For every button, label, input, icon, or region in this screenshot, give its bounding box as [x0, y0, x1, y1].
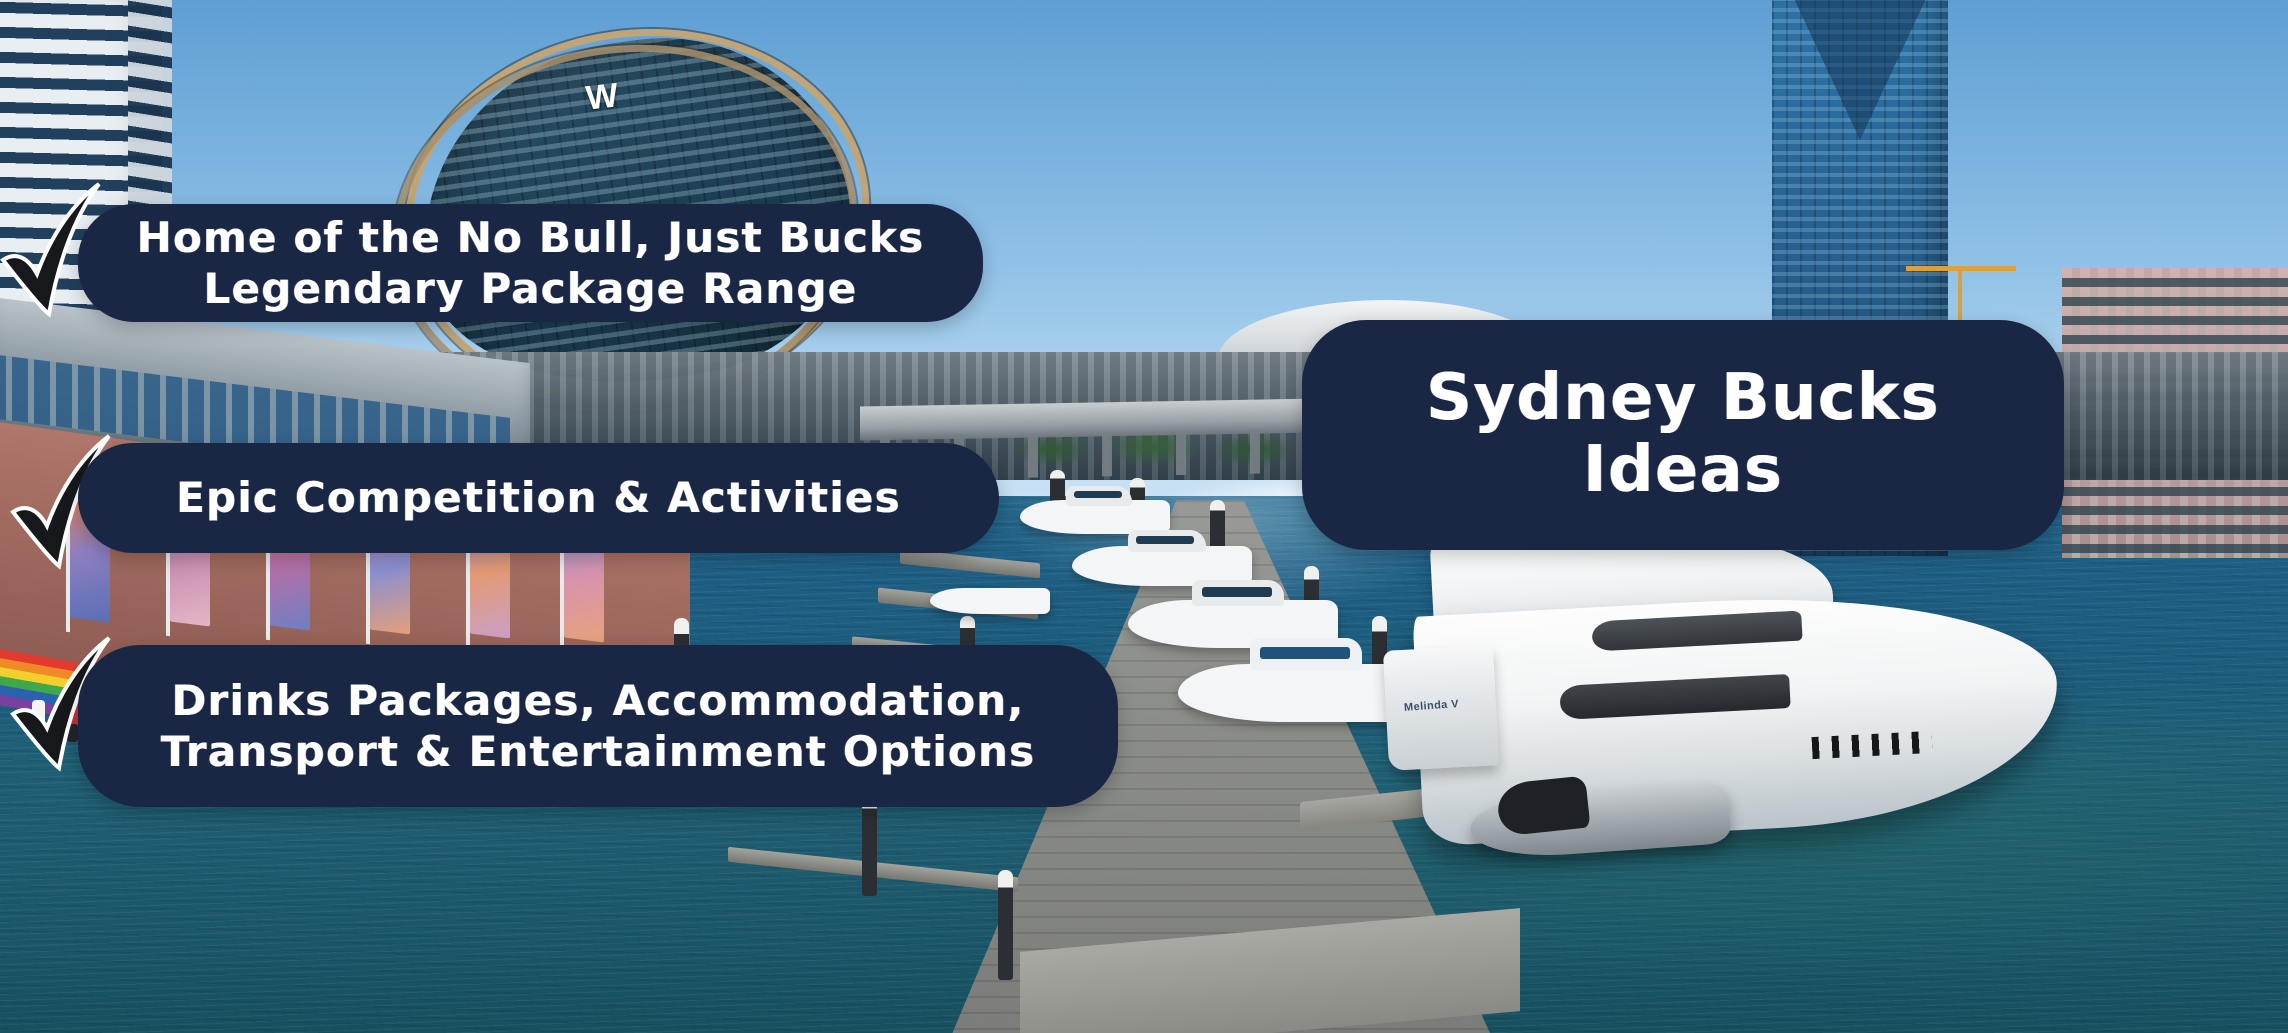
moored-boat [1020, 500, 1170, 534]
hotel-logo-letter: W [584, 76, 621, 118]
feature-3-line-2: Transport & Entertainment Options [161, 727, 1036, 776]
feature-1-line-2: Legendary Package Range [204, 264, 858, 313]
feature-2-text: Epic Competition & Activities [176, 472, 901, 523]
page-title-line-1: Sydney Bucks [1426, 361, 1940, 435]
page-title: Sydney Bucks Ideas [1426, 363, 1940, 506]
pedestrian [32, 700, 45, 740]
title-badge: Sydney Bucks Ideas [1302, 320, 2064, 550]
feature-2-line-1: Epic Competition & Activities [176, 473, 901, 522]
mooring-pile [998, 870, 1013, 980]
right-tower-chevron [1790, 0, 1930, 140]
feature-1-text: Home of the No Bull, Just Bucks Legendar… [137, 212, 925, 314]
feature-1-line-1: Home of the No Bull, Just Bucks [137, 213, 925, 262]
hero-banner: W [0, 0, 2288, 1033]
feature-badge-1: Home of the No Bull, Just Bucks Legendar… [78, 204, 983, 322]
feature-3-text: Drinks Packages, Accommodation, Transpor… [161, 675, 1036, 777]
mooring-pile [862, 792, 877, 896]
feature-3-line-1: Drinks Packages, Accommodation, [171, 676, 1024, 725]
feature-badge-3: Drinks Packages, Accommodation, Transpor… [78, 645, 1118, 807]
page-title-line-2: Ideas [1583, 433, 1783, 507]
moored-boat [930, 588, 1050, 614]
feature-badge-2: Epic Competition & Activities [78, 443, 999, 553]
